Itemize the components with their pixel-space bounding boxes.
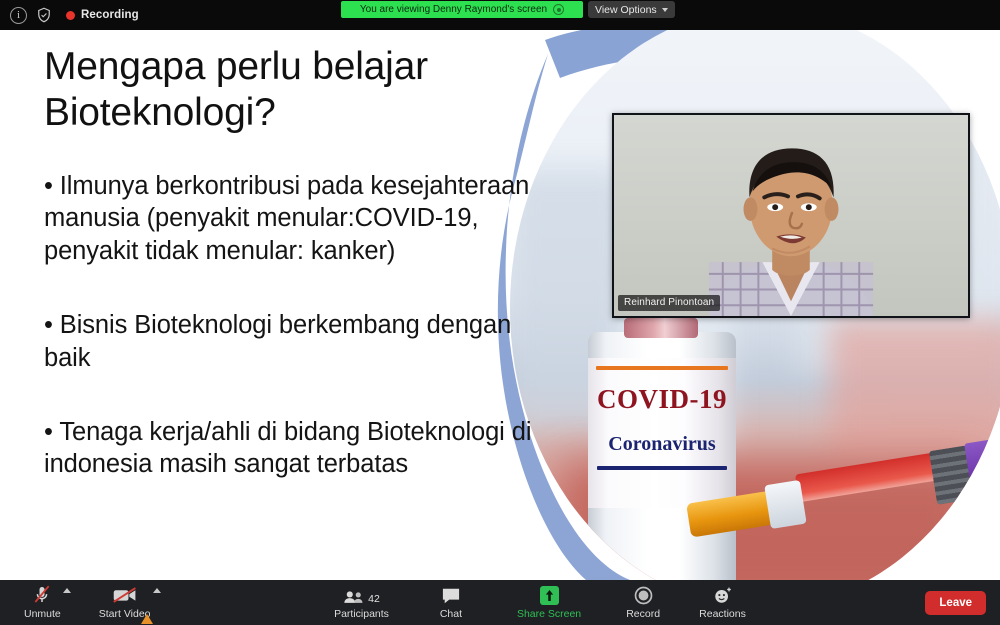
microphone-muted-icon bbox=[32, 585, 52, 605]
list-item: • Tenaga kerja/ahli di bidang Bioteknolo… bbox=[44, 416, 534, 481]
chat-label: Chat bbox=[440, 608, 462, 620]
record-button[interactable]: Record bbox=[617, 580, 669, 625]
participant-webcam-image bbox=[614, 115, 968, 316]
audio-options-caret-up-icon[interactable] bbox=[63, 588, 71, 593]
participant-name-label: Reinhard Pinontoan bbox=[618, 295, 720, 311]
view-options-label: View Options bbox=[595, 4, 657, 16]
info-circle-icon[interactable]: i bbox=[10, 7, 27, 24]
stop-view-icon[interactable] bbox=[553, 4, 564, 15]
record-label: Record bbox=[626, 608, 660, 620]
vial-label-coronavirus-text: Coronavirus bbox=[608, 433, 715, 456]
video-camera-off-icon bbox=[112, 585, 138, 605]
chevron-down-icon bbox=[662, 8, 668, 12]
chat-button[interactable]: Chat bbox=[425, 580, 477, 625]
shared-screen-slide[interactable]: COVID-19 Coronavirus bbox=[0, 30, 1000, 580]
chat-bubble-icon bbox=[441, 585, 461, 605]
reactions-label: Reactions bbox=[699, 608, 746, 620]
page-title: Mengapa perlu belajar Bioteknologi? bbox=[44, 44, 514, 136]
slide-text-column: Mengapa perlu belajar Bioteknologi? • Il… bbox=[0, 30, 560, 580]
zoom-meeting-window: i Recording You are viewing Denny Raymon… bbox=[0, 0, 1000, 625]
start-video-button[interactable]: Start Video bbox=[91, 580, 159, 625]
warning-triangle-icon bbox=[141, 614, 153, 624]
video-options-caret-up-icon[interactable] bbox=[153, 588, 161, 593]
participants-icon: 42 bbox=[343, 585, 380, 605]
share-screen-up-arrow-icon bbox=[540, 585, 559, 605]
list-item: • Ilmunya berkontribusi pada kesejahtera… bbox=[44, 170, 534, 267]
unmute-label: Unmute bbox=[24, 608, 61, 620]
viewing-screen-text: You are viewing Denny Raymond's screen bbox=[360, 4, 547, 15]
vial-label-covid-text: COVID-19 bbox=[597, 384, 727, 415]
active-speaker-video-tile[interactable]: Reinhard Pinontoan bbox=[612, 113, 970, 318]
meeting-controls-toolbar: Unmute Start Video bbox=[0, 580, 1000, 625]
slide-bullet-list: • Ilmunya berkontribusi pada kesejahtera… bbox=[44, 170, 534, 481]
participants-count: 42 bbox=[368, 593, 380, 605]
top-bar-left-group: i Recording bbox=[0, 6, 139, 24]
reactions-button[interactable]: Reactions bbox=[691, 580, 754, 625]
recording-dot-icon bbox=[66, 11, 75, 20]
viewing-screen-banner: You are viewing Denny Raymond's screen bbox=[341, 1, 583, 18]
vial-label-top-rule bbox=[596, 366, 728, 370]
recording-indicator[interactable]: Recording bbox=[66, 9, 139, 21]
unmute-button[interactable]: Unmute bbox=[16, 580, 69, 625]
meeting-top-bar: i Recording You are viewing Denny Raymon… bbox=[0, 0, 1000, 30]
record-circle-icon bbox=[634, 585, 653, 605]
share-screen-button[interactable]: Share Screen bbox=[509, 580, 589, 625]
recording-label: Recording bbox=[81, 9, 139, 21]
list-item: • Bisnis Bioteknologi berkembang dengan … bbox=[44, 309, 534, 374]
leave-button[interactable]: Leave bbox=[925, 591, 986, 615]
share-screen-label: Share Screen bbox=[517, 608, 581, 620]
participants-label: Participants bbox=[334, 608, 389, 620]
reactions-smiley-plus-icon bbox=[713, 585, 733, 605]
shield-check-icon[interactable] bbox=[35, 6, 53, 24]
participants-button[interactable]: 42 Participants bbox=[326, 580, 397, 625]
view-options-button[interactable]: View Options bbox=[588, 1, 675, 18]
